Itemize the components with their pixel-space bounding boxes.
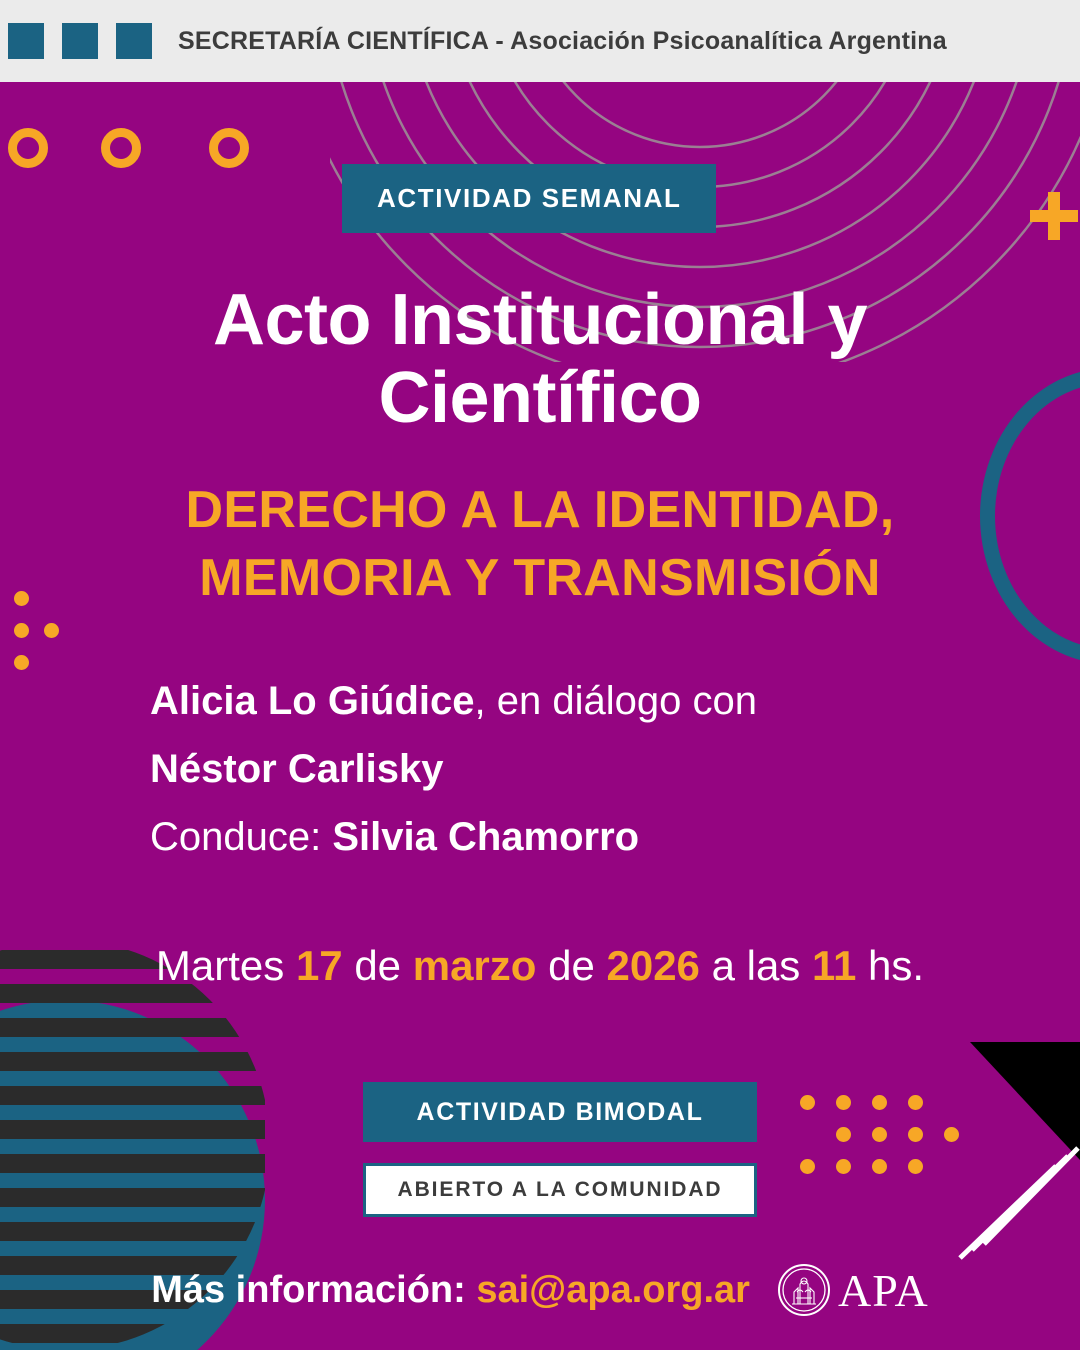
- poster-canvas: SECRETARÍA CIENTÍFICA - Asociación Psico…: [0, 0, 1080, 1350]
- apa-logo: APA: [776, 1262, 929, 1318]
- datetime-suffix: hs.: [856, 942, 924, 989]
- page-title-line-2: Científico: [0, 360, 1080, 438]
- status-badge-bimodal: ACTIVIDAD BIMODAL: [363, 1082, 757, 1142]
- header-title-suffix: Asociación Psicoanalítica Argentina: [510, 27, 947, 55]
- datetime-sep-3: a las: [700, 942, 812, 989]
- status-badge-weekly: ACTIVIDAD SEMANAL: [342, 164, 716, 233]
- contact-email[interactable]: sai@apa.org.ar: [476, 1269, 750, 1311]
- page-title-line-1: Acto Institucional y: [0, 282, 1080, 360]
- page-subtitle: DERECHO A LA IDENTIDAD, MEMORIA Y TRANSM…: [60, 477, 1020, 612]
- page-subtitle-line-2: MEMORIA Y TRANSMISIÓN: [60, 545, 1020, 613]
- event-datetime: Martes 17 de marzo de 2026 a las 11 hs.: [0, 942, 1080, 990]
- poster-content: ACTIVIDAD SEMANAL Acto Institucional y C…: [0, 82, 1080, 1350]
- datetime-month: marzo: [413, 942, 537, 989]
- datetime-day: 17: [296, 942, 343, 989]
- speaker-name-secondary: Néstor Carlisky: [150, 747, 443, 791]
- speaker-line-1: Alicia Lo Giúdice, en diálogo con: [150, 667, 1010, 735]
- page-title: Acto Institucional y Científico: [0, 282, 1080, 438]
- footer-label: Más información:: [151, 1269, 476, 1311]
- header-squares-logo: [8, 23, 152, 59]
- header-title-prefix: SECRETARÍA CIENTÍFICA -: [178, 27, 510, 55]
- apa-logo-text: APA: [838, 1264, 929, 1317]
- datetime-sep-2: de: [536, 942, 606, 989]
- square-icon: [8, 23, 44, 59]
- speaker-line-1-rest: , en diálogo con: [475, 679, 757, 723]
- page-subtitle-line-1: DERECHO A LA IDENTIDAD,: [60, 477, 1020, 545]
- apa-seal-icon: [776, 1262, 832, 1318]
- speaker-name-primary: Alicia Lo Giúdice: [150, 679, 475, 723]
- header-title: SECRETARÍA CIENTÍFICA - Asociación Psico…: [178, 27, 947, 56]
- square-icon: [62, 23, 98, 59]
- speakers-block: Alicia Lo Giúdice, en diálogo con Néstor…: [150, 667, 1010, 871]
- square-icon: [116, 23, 152, 59]
- moderator-name: Silvia Chamorro: [332, 815, 639, 859]
- moderator-label: Conduce:: [150, 815, 332, 859]
- footer-contact: Más información: sai@apa.org.ar: [0, 1262, 1080, 1318]
- datetime-sep-1: de: [343, 942, 413, 989]
- datetime-weekday: Martes: [156, 942, 296, 989]
- footer-text: Más información: sai@apa.org.ar: [151, 1269, 750, 1312]
- speaker-line-3: Conduce: Silvia Chamorro: [150, 803, 1010, 871]
- status-badge-open-community: ABIERTO A LA COMUNIDAD: [363, 1163, 757, 1217]
- header-bar: SECRETARÍA CIENTÍFICA - Asociación Psico…: [0, 0, 1080, 82]
- datetime-year: 2026: [606, 942, 699, 989]
- speaker-line-2: Néstor Carlisky: [150, 735, 1010, 803]
- datetime-hour: 11: [812, 942, 856, 989]
